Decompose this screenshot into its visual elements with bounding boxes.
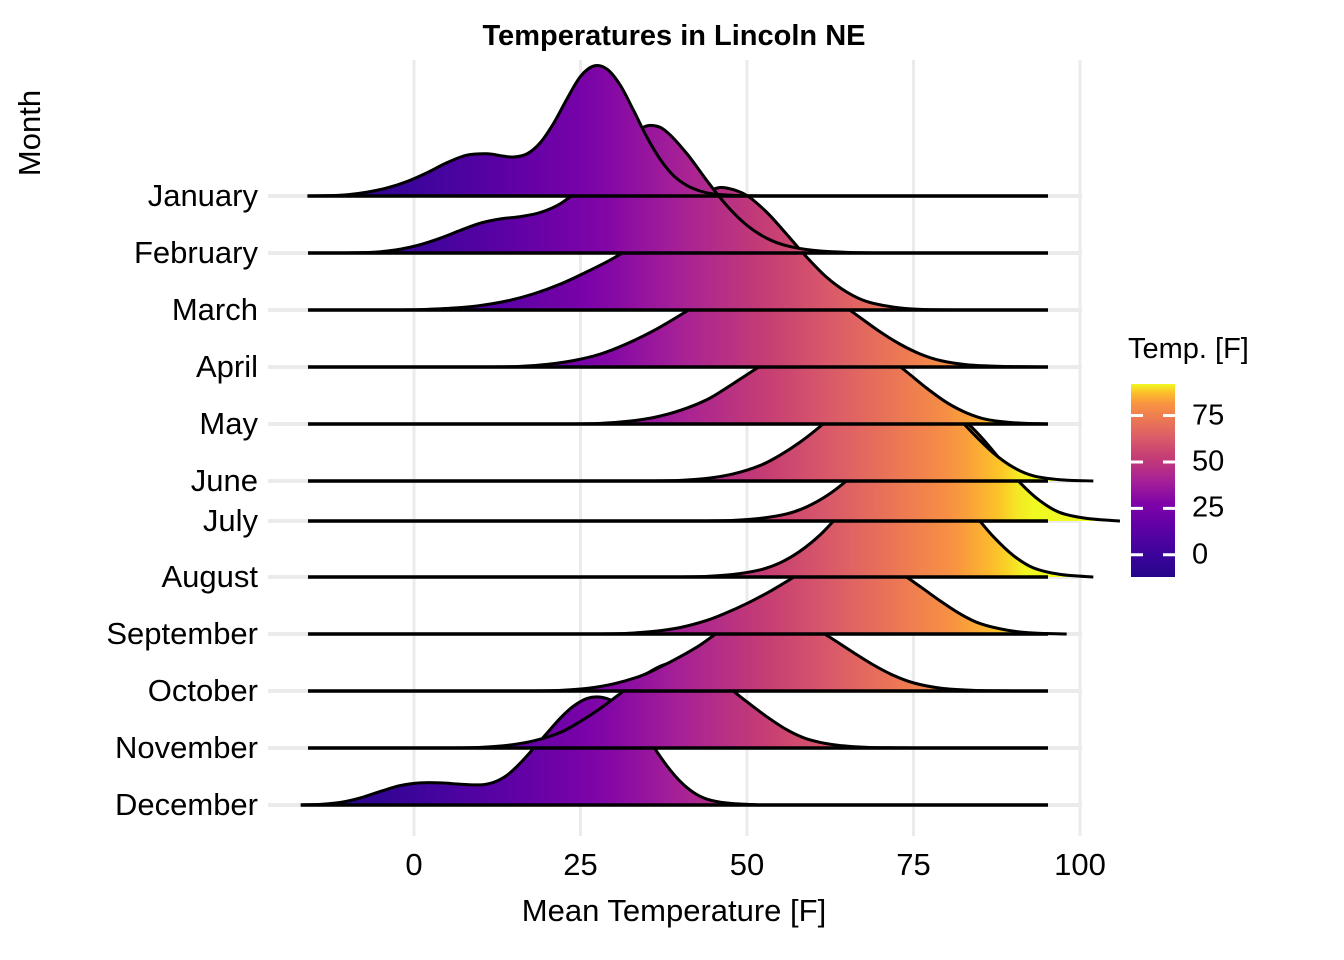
y-axis-tick-label: April (0, 349, 258, 385)
y-axis-tick-label: May (0, 406, 258, 442)
y-axis-tick-label: November (0, 730, 258, 766)
y-axis-tick-label: March (0, 292, 258, 328)
y-axis-tick-label: December (0, 787, 258, 823)
legend-layer (1131, 384, 1175, 577)
ridgeline-chart-root: Temperatures in Lincoln NE Month Mean Te… (0, 0, 1344, 960)
y-axis-tick-label: September (0, 616, 258, 652)
y-axis-tick-label: July (0, 503, 258, 539)
y-axis-tick-label: October (0, 673, 258, 709)
x-axis-tick-label: 100 (1054, 847, 1106, 883)
x-axis-tick-label: 75 (896, 847, 930, 883)
y-axis-tick-label: February (0, 235, 258, 271)
y-axis-tick-label: June (0, 463, 258, 499)
legend-tick-label: 75 (1192, 399, 1224, 432)
legend-title: Temp. [F] (1128, 333, 1249, 366)
y-axis-tick-label: August (0, 559, 258, 595)
x-axis-tick-label: 25 (563, 847, 597, 883)
ridge-layer (301, 66, 1120, 805)
y-axis-tick-label: January (0, 178, 258, 214)
legend-tick-label: 0 (1192, 538, 1208, 571)
x-axis-tick-label: 50 (730, 847, 764, 883)
legend-colorbar (1131, 384, 1175, 577)
x-axis-tick-label: 0 (405, 847, 422, 883)
legend-tick-label: 50 (1192, 445, 1224, 478)
legend-tick-label: 25 (1192, 492, 1224, 525)
